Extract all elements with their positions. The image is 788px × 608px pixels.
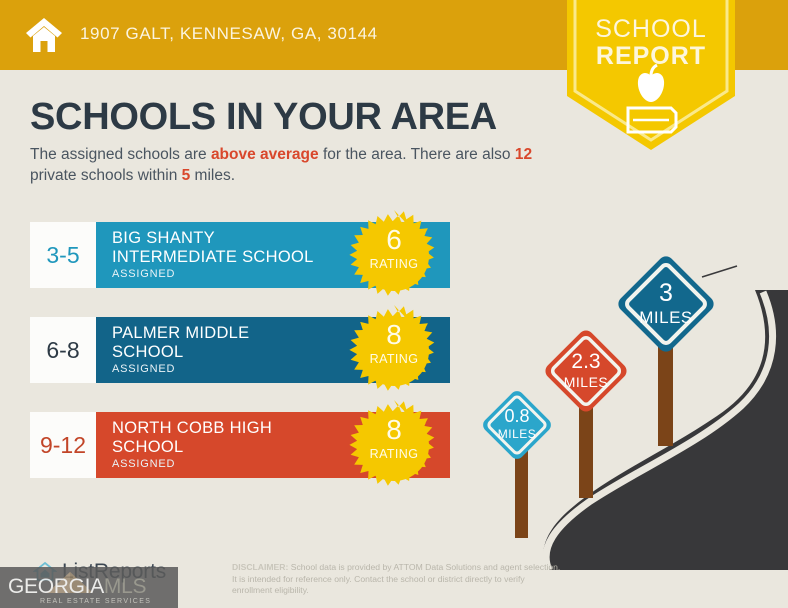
- subtitle-part-4: miles.: [190, 167, 235, 184]
- mls-wordmark: GEORGIAMLS: [8, 575, 146, 599]
- rating-label: RATING: [348, 447, 440, 461]
- subtitle-highlight-count: 12: [515, 146, 532, 163]
- school-row[interactable]: 9-12 NORTH COBB HIGH SCHOOL ASSIGNED 8 R…: [30, 412, 450, 478]
- rating-label: RATING: [348, 257, 440, 271]
- mls-name-mls: MLS: [104, 575, 146, 598]
- footer: ListReports DISCLAIMER: School data is p…: [0, 546, 788, 608]
- rating-label: RATING: [348, 352, 440, 366]
- rating-value: 8: [348, 416, 440, 444]
- rating-starburst: 8 RATING: [348, 400, 440, 492]
- home-icon: [24, 16, 64, 54]
- subtitle-part-3: private schools within: [30, 167, 182, 184]
- disclaimer-label: DISCLAIMER:: [232, 562, 288, 572]
- mls-name-georgia: GEORGIA: [8, 575, 104, 598]
- grade-badge: 9-12: [30, 412, 96, 478]
- distance-sign-1: 0.8 MILES: [472, 380, 562, 470]
- infographic-page: 3 MILES 2.3 MILES 0.8 MILES 190: [0, 0, 788, 608]
- page-title: SCHOOLS IN YOUR AREA: [30, 96, 497, 139]
- grade-range: 3-5: [46, 242, 79, 269]
- school-row[interactable]: 6-8 PALMER MIDDLE SCHOOL ASSIGNED 8 RATI…: [30, 317, 450, 383]
- rating-starburst: 8 RATING: [348, 305, 440, 397]
- subtitle-part-2: for the area. There are also: [319, 146, 515, 163]
- road-scene: 3 MILES 2.3 MILES 0.8 MILES: [455, 230, 788, 570]
- grade-badge: 3-5: [30, 222, 96, 288]
- grade-range: 6-8: [46, 337, 79, 364]
- georgia-mls-watermark: GEORGIAMLS REAL ESTATE SERVICES: [0, 567, 178, 608]
- subtitle-highlight-rating: above average: [211, 146, 319, 163]
- rating-starburst: 6 RATING: [348, 210, 440, 302]
- page-subtitle: The assigned schools are above average f…: [30, 144, 560, 186]
- subtitle-part-1: The assigned schools are: [30, 146, 211, 163]
- subtitle-highlight-radius: 5: [182, 167, 191, 184]
- rating-value: 6: [348, 226, 440, 254]
- mls-tagline: REAL ESTATE SERVICES: [40, 598, 151, 605]
- grade-range: 9-12: [40, 432, 86, 459]
- disclaimer: DISCLAIMER: School data is provided by A…: [232, 562, 562, 597]
- property-address: 1907 GALT, KENNESAW, GA, 30144: [80, 24, 378, 44]
- rating-value: 8: [348, 321, 440, 349]
- school-list: 3-5 BIG SHANTY INTERMEDIATE SCHOOL ASSIG…: [30, 222, 450, 507]
- school-report-badge: SCHOOL REPORT: [561, 0, 741, 152]
- grade-badge: 6-8: [30, 317, 96, 383]
- school-row[interactable]: 3-5 BIG SHANTY INTERMEDIATE SCHOOL ASSIG…: [30, 222, 450, 288]
